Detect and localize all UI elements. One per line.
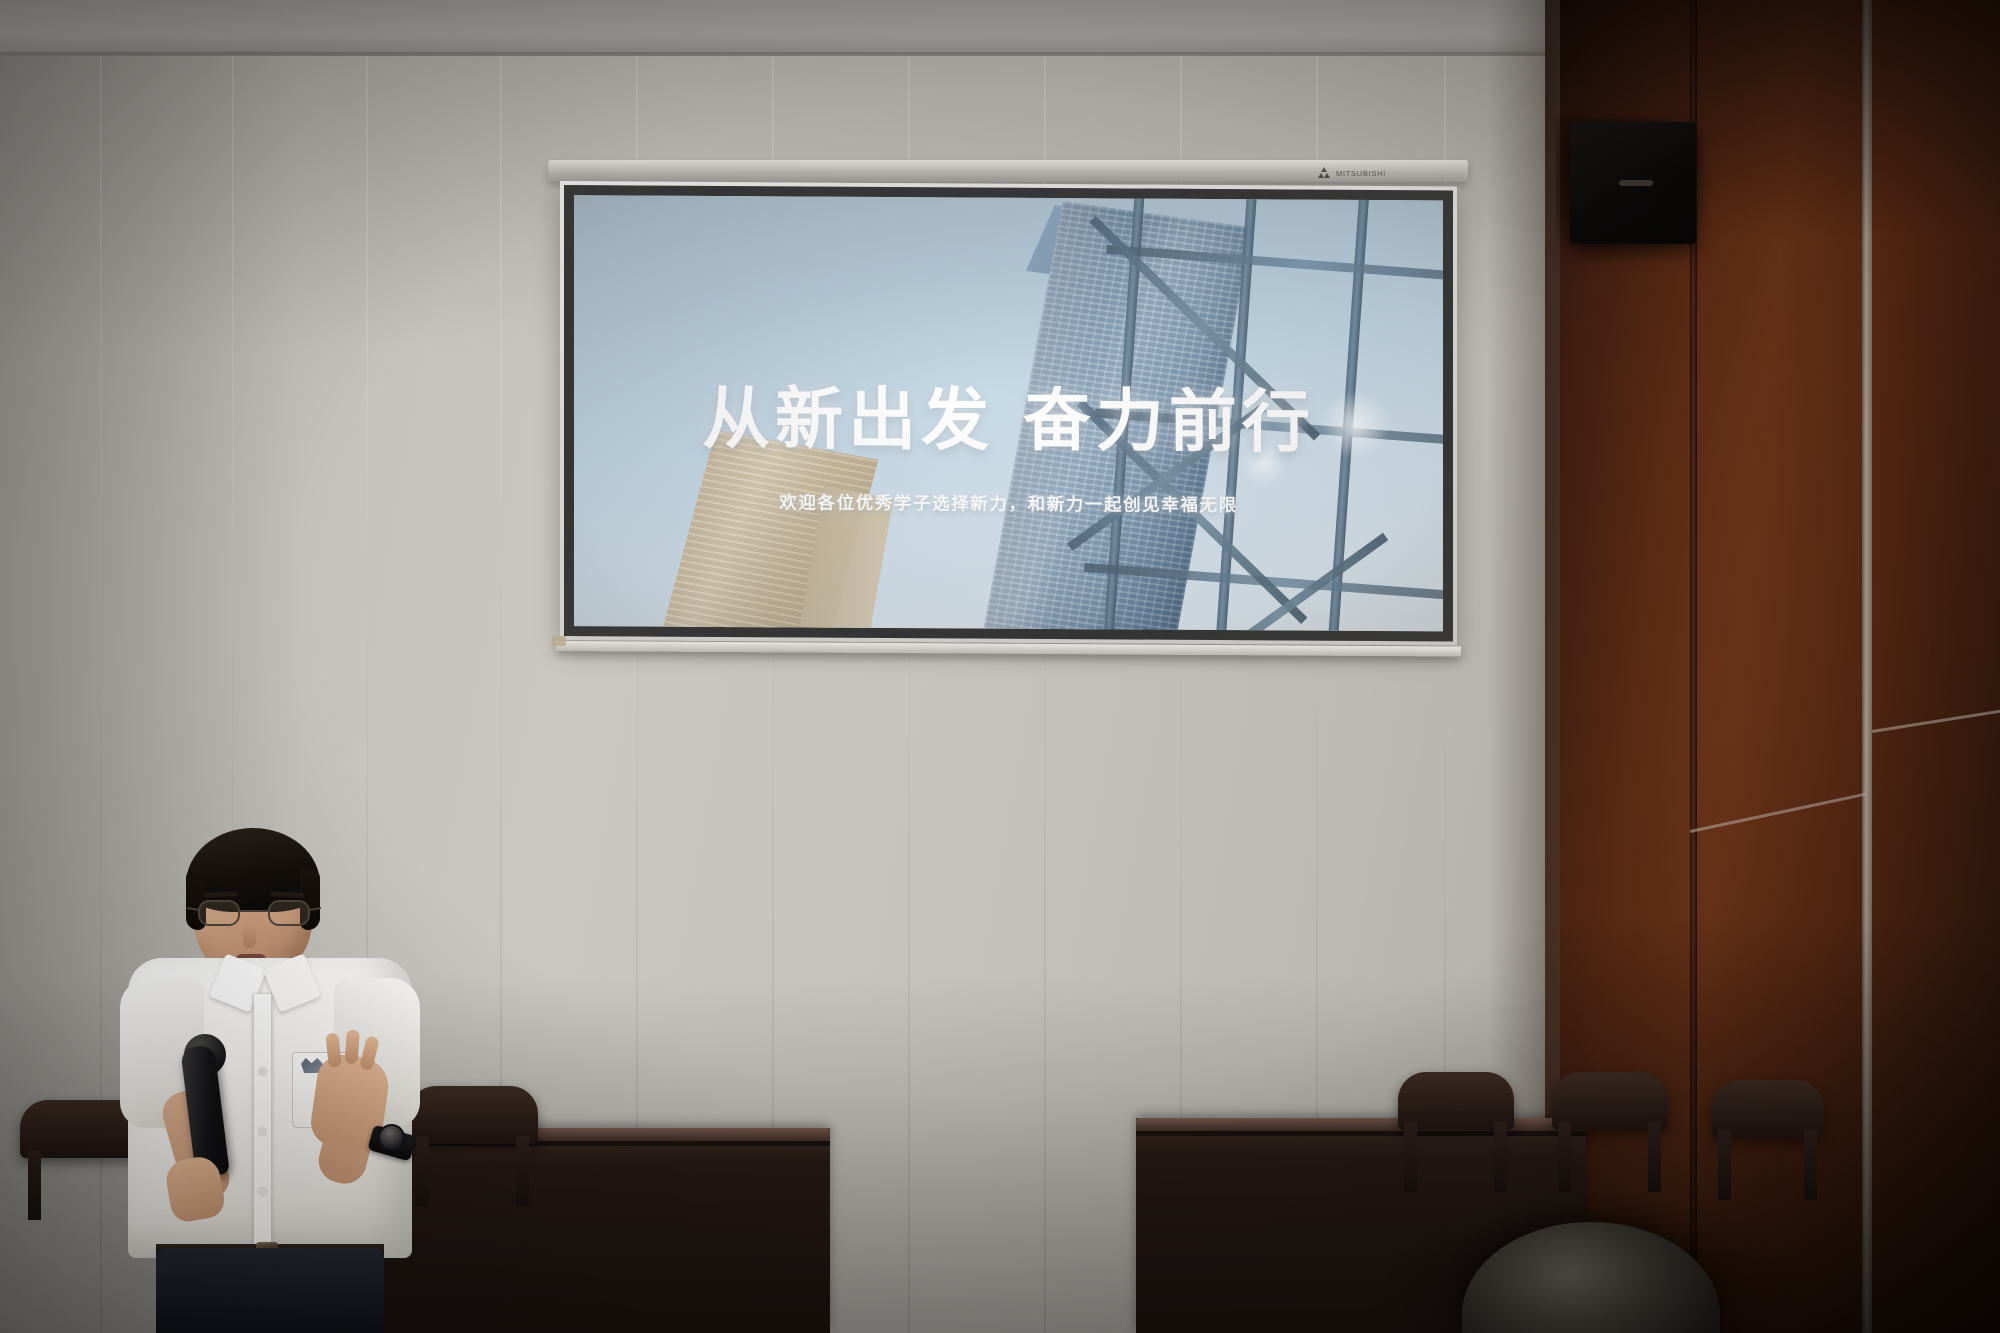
presenter-nose bbox=[243, 924, 256, 948]
shirt-button bbox=[259, 1068, 266, 1075]
screen-black-border: 从新出发 奋力前行 欢迎各位优秀学子选择新力，和新力一起创见幸福无限 bbox=[564, 185, 1453, 641]
shirt-placket bbox=[254, 994, 271, 1244]
finger bbox=[345, 1029, 360, 1064]
slide-subtitle: 欢迎各位优秀学子选择新力，和新力一起创见幸福无限 bbox=[574, 488, 1443, 518]
speaker-grille-slit bbox=[1619, 180, 1653, 186]
brand-text: MITSUBISHI bbox=[1336, 169, 1386, 178]
glasses-icon bbox=[196, 900, 312, 926]
chair-post bbox=[1404, 1122, 1417, 1192]
shirt-button bbox=[259, 1188, 266, 1195]
screen-pull-knob[interactable] bbox=[552, 636, 566, 646]
chair-post bbox=[516, 1136, 529, 1206]
chair-post bbox=[28, 1150, 41, 1220]
chair-2[interactable] bbox=[408, 1086, 538, 1236]
desk-edge bbox=[1136, 1131, 1586, 1136]
chair-post bbox=[1494, 1122, 1507, 1192]
glasses-lens bbox=[198, 900, 240, 926]
glasses-lens bbox=[268, 900, 310, 926]
slide-title: 从新出发 奋力前行 bbox=[574, 385, 1443, 458]
desk-surface bbox=[1136, 1118, 1586, 1131]
projected-slide: 从新出发 奋力前行 欢迎各位优秀学子选择新力，和新力一起创见幸福无限 bbox=[574, 195, 1443, 631]
chair-post bbox=[1648, 1122, 1661, 1192]
mitsubishi-logo: MITSUBISHI bbox=[1318, 166, 1434, 180]
lecture-hall-scene: MITSUBISHI bbox=[0, 0, 2000, 1333]
mitsubishi-diamond-icon bbox=[1318, 167, 1331, 179]
glasses-bridge bbox=[240, 910, 268, 912]
chair-post bbox=[1558, 1122, 1571, 1192]
presenter-trousers bbox=[156, 1248, 384, 1333]
projection-screen[interactable]: 从新出发 奋力前行 欢迎各位优秀学子选择新力，和新力一起创见幸福无限 bbox=[560, 181, 1457, 645]
shirt-button bbox=[259, 1128, 266, 1135]
presenter bbox=[120, 828, 420, 1333]
